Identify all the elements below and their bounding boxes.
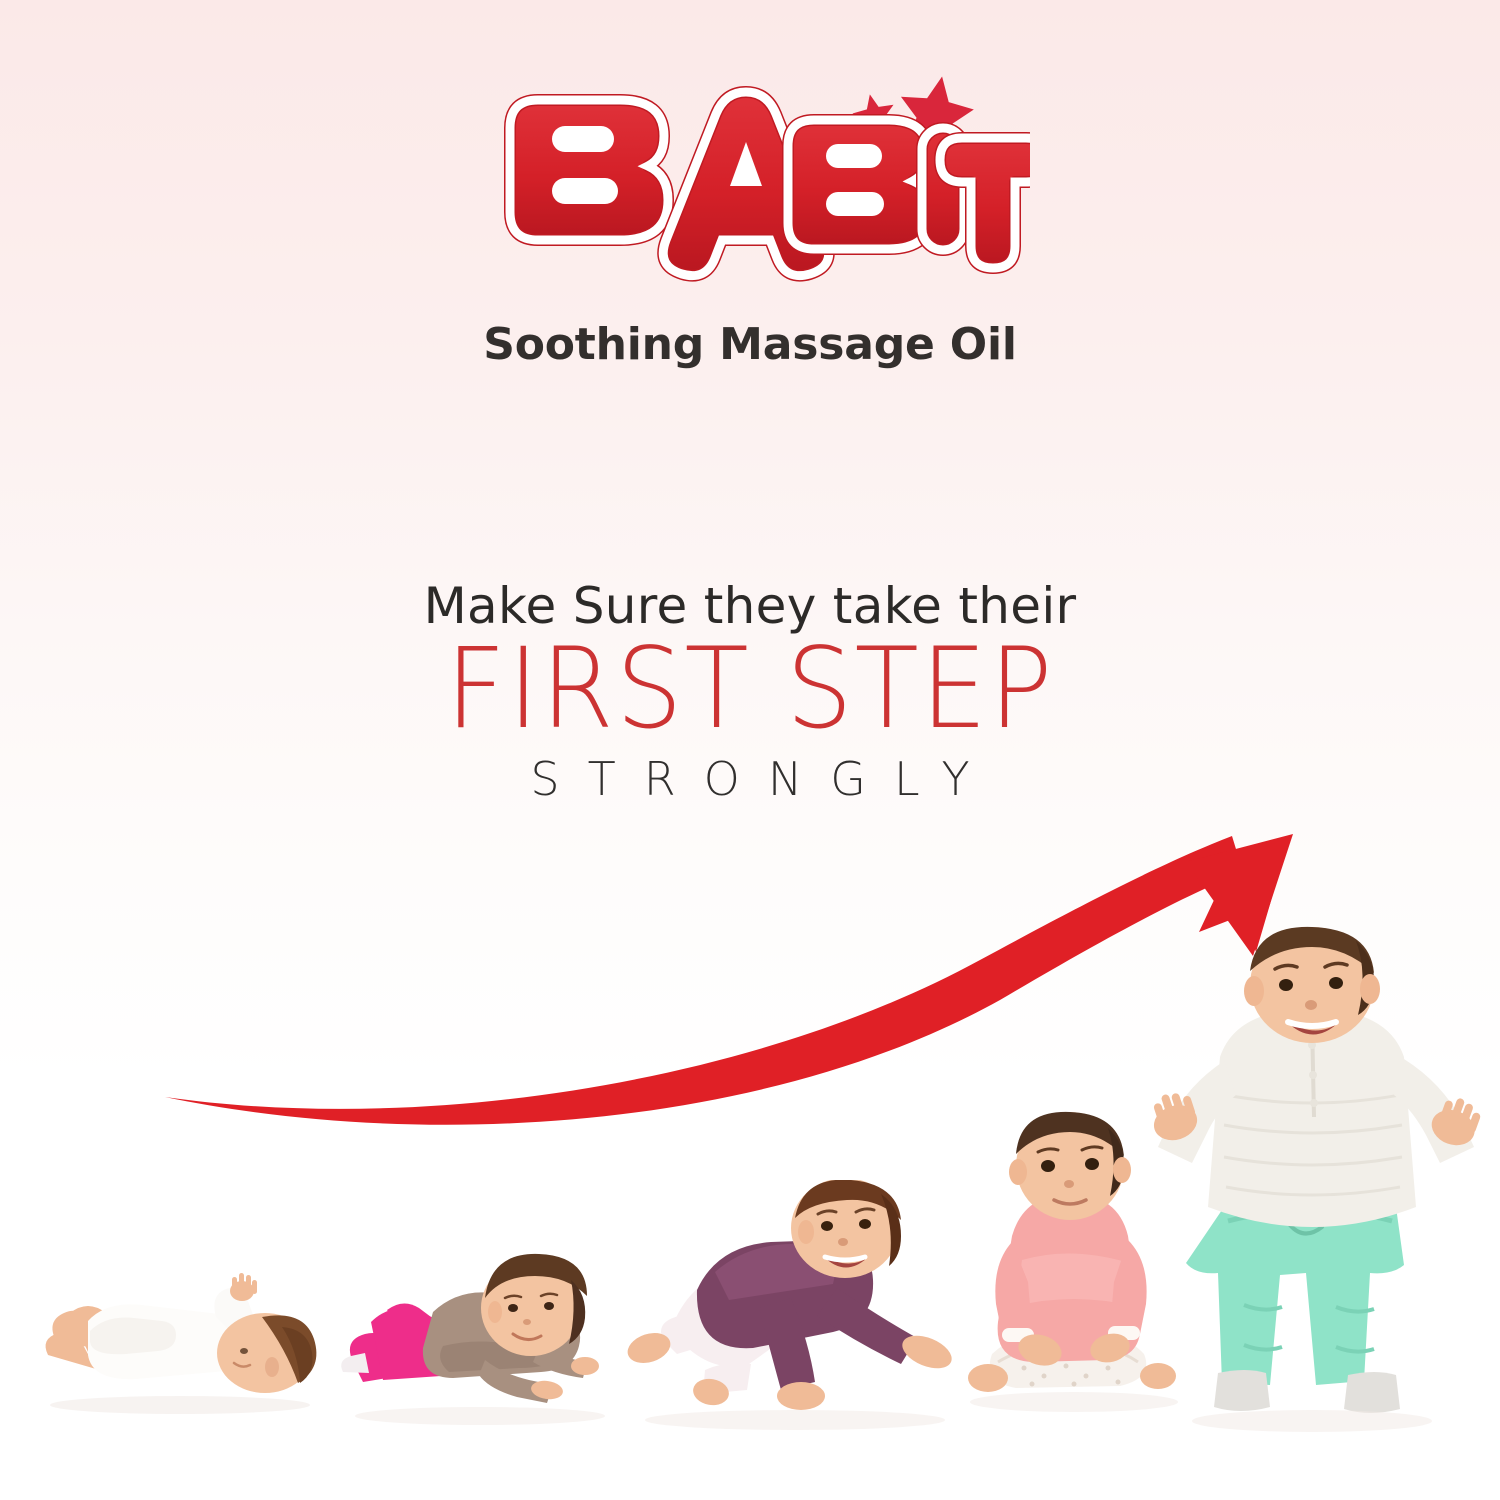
poster-canvas: Soothing Massage Oil Make Sure they take… [0,0,1500,1500]
baby-stage-crawling [615,1180,960,1435]
baby-stage-standing [1140,925,1490,1440]
baby-growth-stages [0,0,1500,1500]
baby-stage-lying [30,1255,330,1430]
baby-stage-tummy [335,1250,620,1430]
